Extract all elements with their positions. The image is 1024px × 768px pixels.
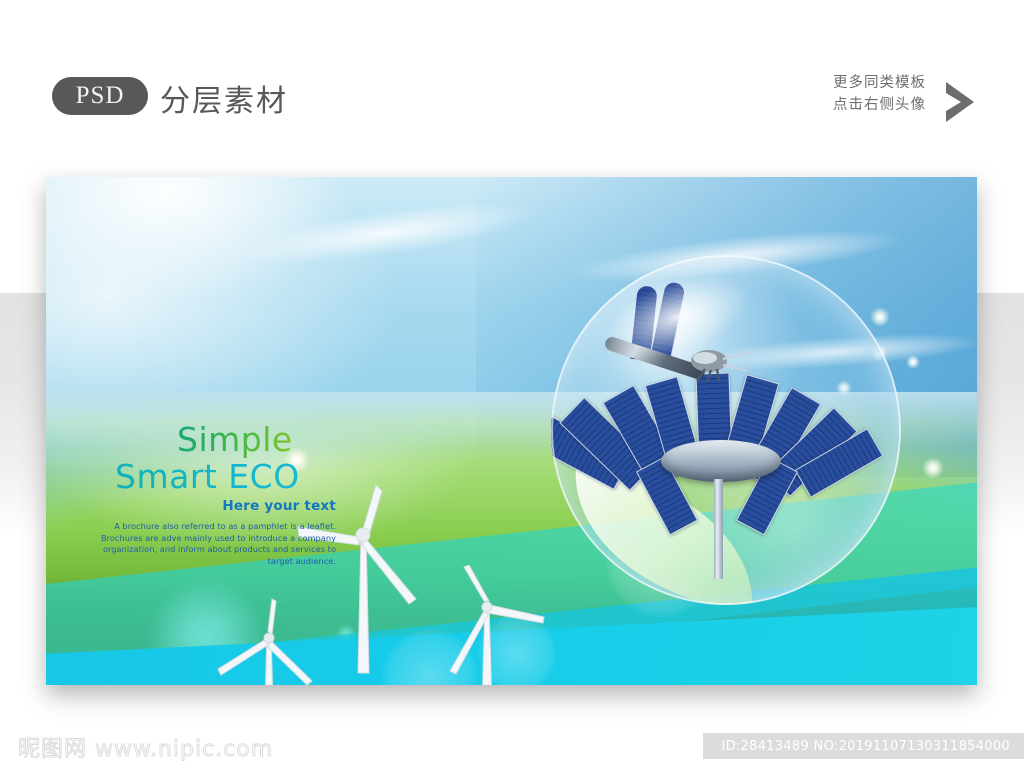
bubble-rim: [551, 255, 901, 605]
promo-line-2: 点击右侧头像: [833, 94, 926, 116]
light-sparkle: [906, 355, 920, 369]
poster-headline-line1: Simple: [177, 420, 293, 459]
light-sparkle: [922, 457, 944, 479]
poster-subhead: Here your text: [181, 498, 336, 514]
poster-headline-line2: Smart ECO: [115, 457, 300, 496]
page-header: PSD 分层素材 更多同类模板 点击右侧头像: [0, 0, 1024, 160]
poster-body-text: A brochure also referred to as a pamphle…: [81, 521, 336, 567]
poster-artwork: Simple Smart ECO Here your text A brochu…: [46, 177, 977, 685]
promo-line-1: 更多同类模板: [833, 72, 926, 94]
psd-badge-text: PSD: [76, 82, 125, 110]
glass-bubble: [551, 255, 901, 605]
site-watermark: 昵图网 www.nipic.com: [18, 731, 273, 763]
light-sparkle: [870, 307, 890, 327]
psd-badge: PSD: [52, 77, 148, 115]
wind-turbine-right: [424, 565, 554, 685]
image-id-bar: ID:28413489 NO:20191107130311854000: [703, 733, 1024, 759]
more-templates-promo[interactable]: 更多同类模板 点击右侧头像: [833, 72, 926, 116]
wind-turbine-left: [206, 597, 336, 685]
psd-badge-label: 分层素材: [160, 76, 288, 120]
chevron-right-icon[interactable]: [940, 78, 980, 126]
image-id-text: ID:28413489 NO:20191107130311854000: [721, 739, 1010, 754]
